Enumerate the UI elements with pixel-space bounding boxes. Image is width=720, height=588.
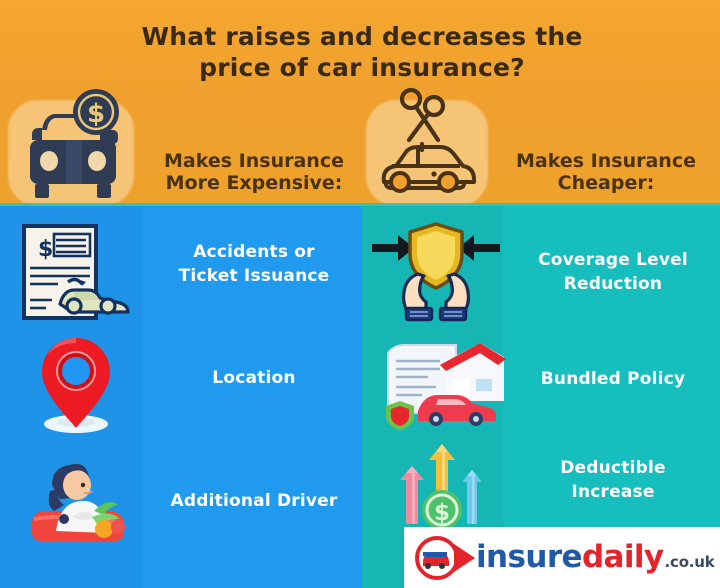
right-item-1-label: Coverage Level Reduction <box>506 248 720 296</box>
svg-text:$: $ <box>87 99 105 129</box>
page-title: What raises and decreases the price of c… <box>88 22 636 83</box>
left-item-2-line-1: Location <box>146 366 362 390</box>
page-title-line-2: price of car insurance? <box>88 53 636 84</box>
right-item-3-label: Deductible Increase <box>506 456 720 504</box>
brand-logo-bar[interactable]: insuredaily.co.uk <box>404 527 720 588</box>
car-with-dollar-coin-icon: $ <box>8 84 138 200</box>
right-item-2-label: Bundled Policy <box>506 367 720 391</box>
right-item-1-line-2: Reduction <box>506 272 720 296</box>
column-heading-right-line-2: Cheaper: <box>492 172 720 194</box>
right-item-1-line-1: Coverage Level <box>506 248 720 272</box>
brand-logo-text: insuredaily.co.uk <box>476 542 715 573</box>
left-item-1-line-1: Accidents or <box>146 240 362 264</box>
insuredaily-car-arrow-logo-icon <box>414 535 476 581</box>
bundled-house-car-policy-icon <box>382 335 504 427</box>
right-item-3-line-2: Increase <box>506 480 720 504</box>
infographic-poster: What raises and decreases the price of c… <box>0 0 720 588</box>
column-heading-left-line-1: Makes Insurance <box>146 150 362 172</box>
left-item-2-label: Location <box>146 366 362 390</box>
right-item-2-line-1: Bundled Policy <box>506 367 720 391</box>
left-item-1-line-2: Ticket Issuance <box>146 264 362 288</box>
left-item-3-label: Additional Driver <box>146 489 362 513</box>
document-with-car-icon: $ <box>16 222 136 322</box>
left-item-3-line-1: Additional Driver <box>146 489 362 513</box>
column-heading-left: Makes Insurance More Expensive: <box>146 150 362 195</box>
brand-word-insure: insure <box>476 542 582 573</box>
column-heading-left-line-2: More Expensive: <box>146 172 362 194</box>
shield-in-hands-icon <box>370 220 502 324</box>
location-pin-icon <box>26 332 126 436</box>
right-item-3-line-1: Deductible <box>506 456 720 480</box>
brand-word-domain: .co.uk <box>665 555 715 570</box>
driver-person-in-car-icon <box>22 455 132 547</box>
rising-arrows-with-dollar-coin-icon: $ <box>386 440 496 538</box>
left-item-1-label: Accidents or Ticket Issuance <box>146 240 362 288</box>
column-heading-right: Makes Insurance Cheaper: <box>492 150 720 195</box>
page-title-line-1: What raises and decreases the <box>88 22 636 53</box>
column-heading-right-line-1: Makes Insurance <box>492 150 720 172</box>
svg-text:$: $ <box>434 500 450 526</box>
brand-word-daily: daily <box>582 542 664 573</box>
scissors-over-car-icon <box>372 82 490 200</box>
svg-text:$: $ <box>38 237 53 262</box>
